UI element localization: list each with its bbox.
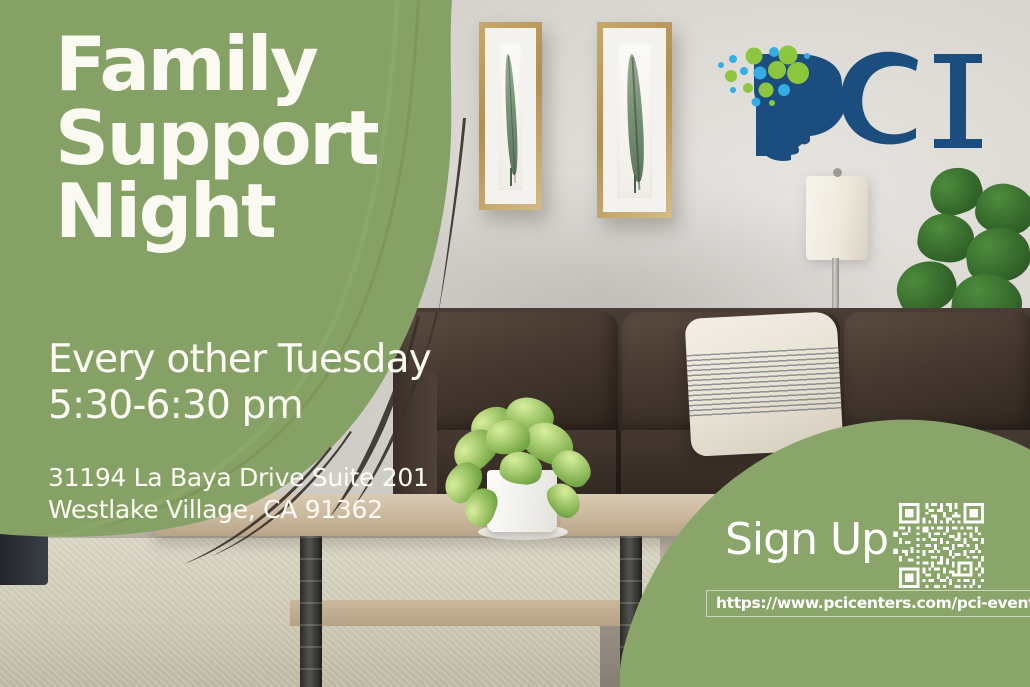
address-text: 31194 La Baya Drive Suite 201 Westlake V…	[48, 462, 429, 525]
page-title: Family Support Night	[55, 28, 475, 249]
flyer-canvas: Family Support Night Every other Tuesday…	[0, 0, 1030, 687]
lamp-finial	[833, 168, 842, 177]
schedule-text: Every other Tuesday 5:30-6:30 pm	[48, 337, 431, 429]
address-line-2: Westlake Village, CA 91362	[48, 494, 429, 526]
table-lamp-shade	[806, 176, 868, 260]
pci-head-profile-logo	[712, 40, 987, 165]
signup-url[interactable]: https://www.pcicenters.com/pci-events/	[706, 590, 1030, 617]
schedule-line-1: Every other Tuesday	[48, 337, 431, 383]
qr-code-icon[interactable]	[899, 503, 984, 588]
schedule-line-2: 5:30-6:30 pm	[48, 383, 431, 429]
address-line-1: 31194 La Baya Drive Suite 201	[48, 462, 429, 494]
headline-line-2: Support	[55, 102, 475, 176]
signup-label: Sign Up:	[725, 514, 902, 565]
headline-line-3: Night	[55, 175, 475, 249]
framed-leaf-print-right	[597, 22, 672, 218]
headline-line-1: Family	[55, 28, 475, 102]
